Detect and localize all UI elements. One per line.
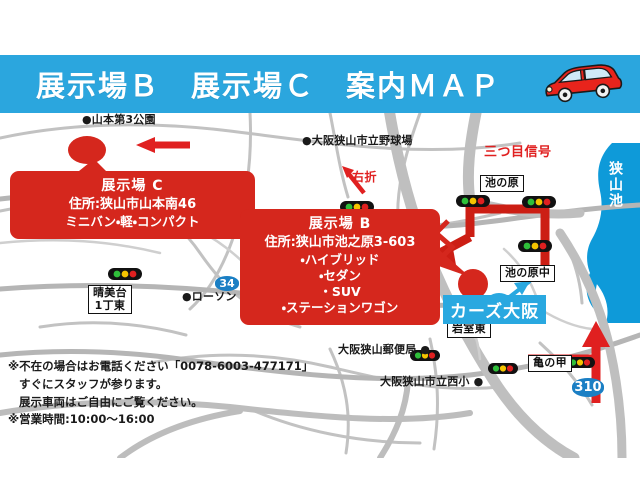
callout-b-item-1: ・セダン	[250, 268, 430, 284]
red-minivan-icon	[536, 61, 628, 107]
callout-showroom-c: 展示場 C 住所:狭山市山本南46 ミニバン・軽・コンパクト	[10, 171, 255, 239]
footer-note: ※不在の場合はお電話ください「0078-6003-477171」 すぐにスタッフ…	[8, 358, 308, 429]
note-line-3: 展示車両はご自由にご覧ください。	[8, 394, 308, 412]
map-label-yamamoto-park: ●山本第3公園	[82, 114, 156, 126]
callout-b-item-2: ・SUV	[250, 284, 430, 300]
callout-b-item-3: ・ステーションワゴン	[250, 300, 430, 316]
page-title: 展示場Ｂ 展示場Ｃ 案内ＭＡＰ	[36, 63, 501, 105]
note-line-1: ※不在の場合はお電話ください「0078-6003-477171」	[8, 358, 308, 376]
header-banner: 展示場Ｂ 展示場Ｃ 案内ＭＡＰ	[0, 55, 640, 113]
route-arrow-west	[136, 137, 190, 153]
callout-b-item-0: ・ハイブリッド	[250, 252, 430, 268]
box-label-ikenoharanaka: 池の原中	[500, 265, 555, 282]
box-label-harumidai-line1: 晴美台	[93, 286, 127, 299]
box-label-harumidai-line2: 1丁東	[95, 299, 126, 312]
map-label-nishi-elementary: 大阪狭山市立西小 ●	[380, 376, 483, 388]
map-label-baseball-field: ●大阪狭山市立野球場	[302, 135, 413, 147]
box-label-kamenoko: 亀の甲	[528, 355, 572, 372]
highlight-cars-osaka: カーズ大阪	[443, 295, 546, 324]
callout-c-address: 住所:狭山市山本南46	[20, 197, 245, 214]
callout-c-item-0: ミニバン・軽・コンパクト	[20, 214, 245, 230]
note-line-2: すぐにスタッフが参ります。	[8, 376, 308, 394]
marker-showroom-c	[68, 136, 106, 164]
callout-b-address: 住所:狭山市池之原3-603	[250, 235, 430, 252]
label-sayama-pond: 狭山池	[608, 161, 622, 209]
box-label-harumidai: 晴美台 1丁東	[88, 285, 132, 314]
route-shield-310: 310	[572, 378, 604, 397]
box-label-ikenohara: 池の原	[480, 175, 524, 192]
map-label-lawson: ●ローソン	[182, 291, 237, 303]
callout-c-title: 展示場 C	[20, 178, 245, 196]
callout-showroom-b: 展示場 B 住所:狭山市池之原3-603 ・ハイブリッド ・セダン ・SUV ・…	[240, 209, 440, 325]
map-flyer: 展示場Ｂ 展示場Ｃ 案内ＭＡＰ	[0, 0, 640, 480]
callout-b-title: 展示場 B	[250, 216, 430, 234]
map-label-post-office: 大阪狭山郵便局 ●	[338, 344, 430, 356]
note-line-4: ※営業時間:10:00～16:00	[8, 411, 308, 429]
route-shield-34: 34	[215, 276, 239, 291]
annotation-turn-right: 右折	[352, 168, 377, 185]
annotation-third-signal: 三つ目信号	[484, 141, 552, 160]
